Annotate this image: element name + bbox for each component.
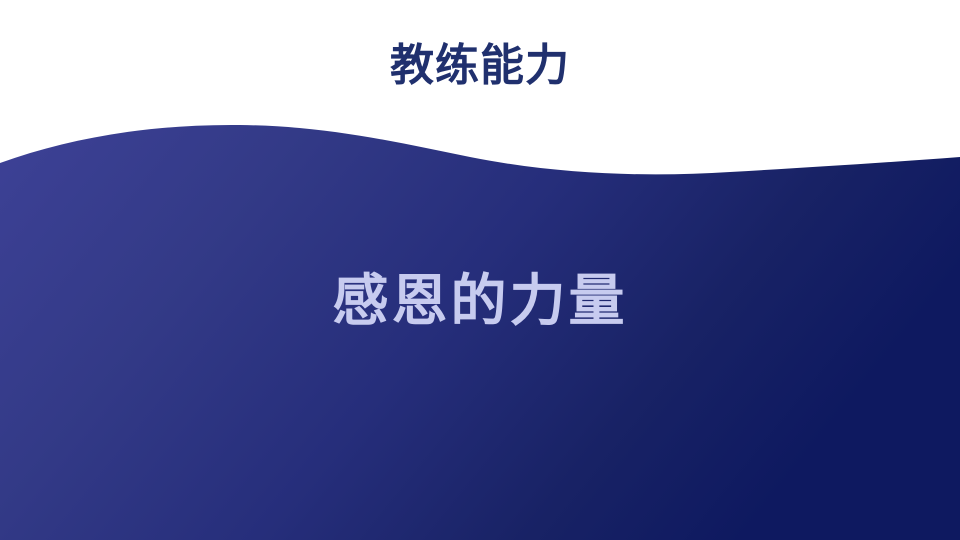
slide-subtitle: 感恩的力量 — [0, 266, 960, 336]
presentation-slide: 教练能力 感恩的力量 — [0, 0, 960, 540]
page-title: 教练能力 — [0, 38, 960, 94]
